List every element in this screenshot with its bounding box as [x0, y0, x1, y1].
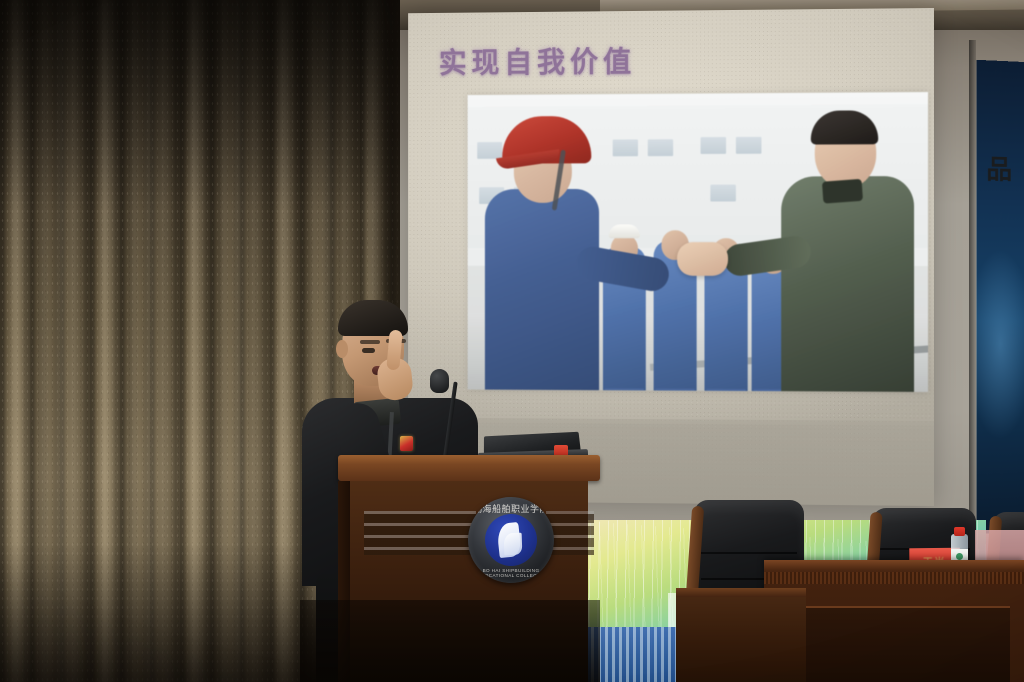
microphone-head [430, 369, 449, 393]
podium-slats-left [364, 511, 476, 555]
stage-floor-shadow [300, 600, 600, 682]
table-front-panel [778, 606, 1010, 682]
table-ridge [764, 572, 1024, 584]
banner-character: 品 [986, 149, 1012, 187]
photo-foreground-worker [485, 189, 599, 390]
college-emblem: 渤海船舶职业学院 BO HAI SHIPBUILDING VOCATIONAL … [468, 497, 554, 583]
speaker-eye [362, 348, 375, 353]
banner-glow [976, 249, 1024, 439]
emblem-sail-icon-secondary [504, 533, 523, 556]
side-banner: 品 [976, 60, 1024, 534]
foreground-furniture-top [676, 588, 806, 597]
curtain-top-shadow [0, 0, 400, 210]
podium-top-surface [338, 455, 600, 481]
party-emblem-pin [400, 436, 413, 451]
emblem-english-name: BO HAI SHIPBUILDING VOCATIONAL COLLEGE [468, 568, 554, 578]
slide-photo [468, 92, 928, 392]
photo-leader-collar [822, 179, 863, 204]
slide-title: 实现自我价值 [439, 39, 636, 82]
lecture-hall-photo: 实现自我价值 [0, 0, 1024, 682]
banner-shadow [969, 40, 976, 560]
photo-leader-body [781, 176, 914, 392]
table-edge [764, 560, 1024, 570]
foreground-furniture-block [676, 588, 806, 682]
handshake [677, 242, 728, 276]
bottle-cap [954, 527, 965, 536]
speaker-ear [336, 340, 348, 358]
speaker-brow [360, 340, 380, 344]
